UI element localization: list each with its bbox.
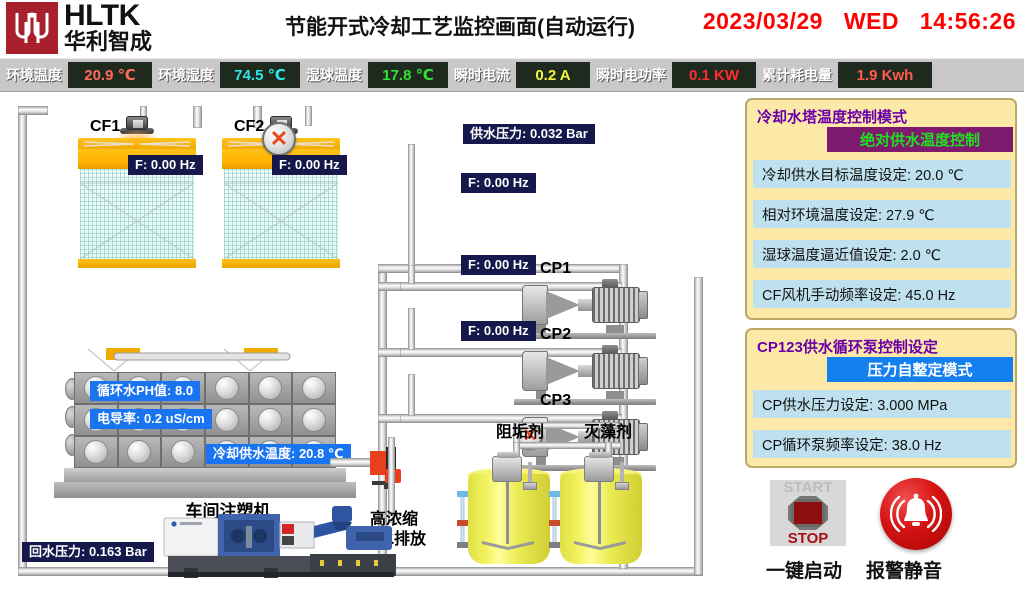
status-item-0: 环境温度20.9 ℃ — [0, 62, 152, 88]
ct2-level-gauge-icon — [548, 490, 562, 550]
cp1-motor-cap — [638, 291, 648, 319]
cf2-frequency-badge: F: 0.00 Hz — [272, 155, 347, 175]
setting-target-supply-temp[interactable]: 冷却供水目标温度设定: 20.0 ℃ — [753, 160, 1011, 188]
panel-pump-title: CP123供水循环泵控制设定 — [757, 336, 938, 357]
alarm-button-caption: 报警静音 — [866, 556, 942, 583]
cf1-motor-icon — [126, 116, 148, 130]
cp2-baseplate — [514, 399, 656, 405]
pump-cp2[interactable] — [510, 343, 660, 405]
basin-plinth-upper — [64, 468, 346, 482]
ct2-agitator-motor — [584, 456, 614, 482]
cp1-volute — [522, 285, 548, 325]
status-label-3: 瞬时电流 — [448, 65, 516, 85]
chem-tank-2-label: 灭藻剂 — [568, 423, 648, 442]
status-value-1: 74.5 ℃ — [220, 62, 300, 88]
ct1-agitator-shaft — [506, 482, 509, 544]
status-label-0: 环境温度 — [0, 65, 68, 85]
clock-time: 14:56:26 — [920, 8, 1016, 34]
stop-label: STOP — [788, 531, 829, 546]
status-value-4: 0.1 KW — [672, 62, 756, 88]
alarm-mute-button[interactable] — [880, 478, 952, 550]
status-label-1: 环境湿度 — [152, 65, 220, 85]
tower-mode-banner[interactable]: 绝对供水温度控制 — [827, 127, 1013, 152]
supply-temperature-badge: 冷却供水温度: 20.8 ℃ — [206, 444, 351, 464]
ct2-outlet-valve — [615, 482, 629, 490]
cp1-shaft — [578, 299, 592, 311]
ct1-impeller-icon — [482, 540, 534, 552]
process-diagram: CF1 F: 0.00 Hz CF2 ✕ F: 0.00 Hz — [0, 92, 740, 600]
status-value-3: 0.2 A — [516, 62, 590, 88]
tower-tag-cf1: CF1 — [90, 118, 120, 136]
clock-weekday: WED — [844, 8, 899, 34]
pump-tag-cp2: CP2 — [540, 326, 571, 344]
cp2-frequency-badge: F: 0.00 Hz — [461, 255, 536, 275]
pipe-loop-top-left-stub — [18, 106, 48, 115]
status-value-0: 20.9 ℃ — [68, 62, 152, 88]
pipe-cf2-riser — [305, 106, 312, 126]
basin-plinth-lower — [54, 482, 356, 498]
chem-tank-1-label: 阻垢剂 — [480, 423, 560, 442]
cp1-foot-b — [606, 325, 624, 333]
pump-tag-cp1: CP1 — [540, 260, 571, 278]
ct1-agitator-motor — [492, 456, 522, 482]
cf1-base-ring — [78, 259, 196, 268]
tower-support-frame — [74, 347, 336, 373]
pipe-loop-left — [18, 106, 27, 576]
tower-tag-cf2: CF2 — [234, 118, 264, 136]
cf1-brace-icon — [80, 169, 194, 259]
cf2-brace-icon — [224, 169, 338, 259]
app-header: HLTK 华利智成 节能开式冷却工艺监控画面(自动运行) 2023/03/29 … — [0, 0, 1024, 58]
company-logo-mark — [6, 2, 58, 54]
cp2-motor — [592, 353, 640, 389]
hardwater-blowdown-valve[interactable] — [368, 447, 412, 509]
page-title: 节能开式冷却工艺监控画面(自动运行) — [245, 11, 675, 41]
setting-wetbulb-approach[interactable]: 湿球温度逼近值设定: 2.0 ℃ — [753, 240, 1011, 268]
pipe-cp3-inlet-drop — [408, 374, 415, 416]
cp2-motor-cap — [638, 357, 648, 385]
start-button-caption: 一键启动 — [766, 556, 842, 583]
pipe-loop-right — [694, 277, 703, 575]
cp2-shaft — [578, 365, 592, 377]
brand-name-en: HLTK — [64, 2, 140, 30]
status-item-2: 湿球温度17.8 ℃ — [300, 62, 448, 88]
cp2-volute — [522, 351, 548, 391]
injection-machine-icon — [160, 504, 400, 580]
pipe-cf-header-a — [193, 106, 202, 128]
status-label-2: 湿球温度 — [300, 65, 368, 85]
status-value-5: 1.9 Kwh — [838, 62, 932, 88]
clock-display: 2023/03/29 WED 14:56:26 — [689, 8, 1016, 35]
status-item-1: 环境湿度74.5 ℃ — [152, 62, 300, 88]
status-value-2: 17.8 ℃ — [368, 62, 448, 88]
panel-tower-temperature-control: 冷却水塔温度控制模式 绝对供水温度控制 冷却供水目标温度设定: 20.0 ℃ 相… — [745, 98, 1017, 320]
cp1-frequency-badge: F: 0.00 Hz — [461, 173, 536, 193]
ct2-impeller-icon — [574, 540, 626, 552]
cf1-frequency-badge: F: 0.00 Hz — [128, 155, 203, 175]
one-key-start-stop-button[interactable]: START STOP — [770, 480, 846, 546]
status-item-4: 瞬时电功率0.1 KW — [590, 62, 756, 88]
setting-relative-ambient-temp[interactable]: 相对环境温度设定: 27.9 ℃ — [753, 200, 1011, 228]
cp3-frequency-badge: F: 0.00 Hz — [461, 321, 536, 341]
cp1-motor — [592, 287, 640, 323]
clock-date: 2023/03/29 — [703, 8, 823, 34]
return-pressure-badge: 回水压力: 0.163 Bar — [22, 542, 154, 562]
status-label-4: 瞬时电功率 — [590, 65, 672, 85]
status-bar: 环境温度20.9 ℃环境湿度74.5 ℃湿球温度17.8 ℃瞬时电流0.2 A瞬… — [0, 58, 1024, 92]
start-label: START — [784, 480, 833, 495]
panel-pump-control: CP123供水循环泵控制设定 压力自整定模式 CP供水压力设定: 3.000 M… — [745, 328, 1017, 468]
ct1-level-gauge-icon — [456, 490, 470, 550]
ct1-outlet-valve — [523, 482, 537, 490]
supply-pressure-badge: 供水压力: 0.032 Bar — [463, 124, 595, 144]
setting-cp-pump-frequency[interactable]: CP循环泵频率设定: 38.0 Hz — [753, 430, 1011, 458]
status-label-5: 累计耗电量 — [756, 65, 838, 85]
chemical-tank-antiscalant[interactable] — [468, 456, 550, 564]
brand-name-cn: 华利智成 — [64, 30, 152, 54]
estop-octagon-icon — [788, 496, 828, 530]
conductivity-badge: 电导率: 0.2 uS/cm — [90, 409, 212, 429]
cp2-coupling-cone — [546, 357, 580, 385]
injection-molding-machine[interactable] — [160, 504, 400, 580]
setting-cp-supply-pressure[interactable]: CP供水压力设定: 3.000 MPa — [753, 390, 1011, 418]
pump-tag-cp3: CP3 — [540, 392, 571, 410]
bell-icon — [890, 489, 942, 539]
setting-cf-manual-frequency[interactable]: CF风机手动频率设定: 45.0 Hz — [753, 280, 1011, 308]
cf2-stopped-icon: ✕ — [262, 122, 296, 156]
pump-mode-banner[interactable]: 压力自整定模式 — [827, 357, 1013, 382]
cf2-base-ring — [222, 259, 340, 268]
status-item-3: 瞬时电流0.2 A — [448, 62, 590, 88]
cp2-foot-b — [606, 391, 624, 399]
status-item-5: 累计耗电量1.9 Kwh — [756, 62, 932, 88]
ph-value-badge: 循环水PH值: 8.0 — [90, 381, 200, 401]
pipe-cp2-inlet-drop — [408, 308, 415, 350]
panel-tower-title: 冷却水塔温度控制模式 — [757, 106, 907, 127]
ct2-agitator-shaft — [598, 482, 601, 544]
pipe-supply-pressure-tap — [408, 144, 415, 266]
cp1-coupling-cone — [546, 291, 580, 319]
chemical-tank-algaecide[interactable] — [560, 456, 642, 564]
